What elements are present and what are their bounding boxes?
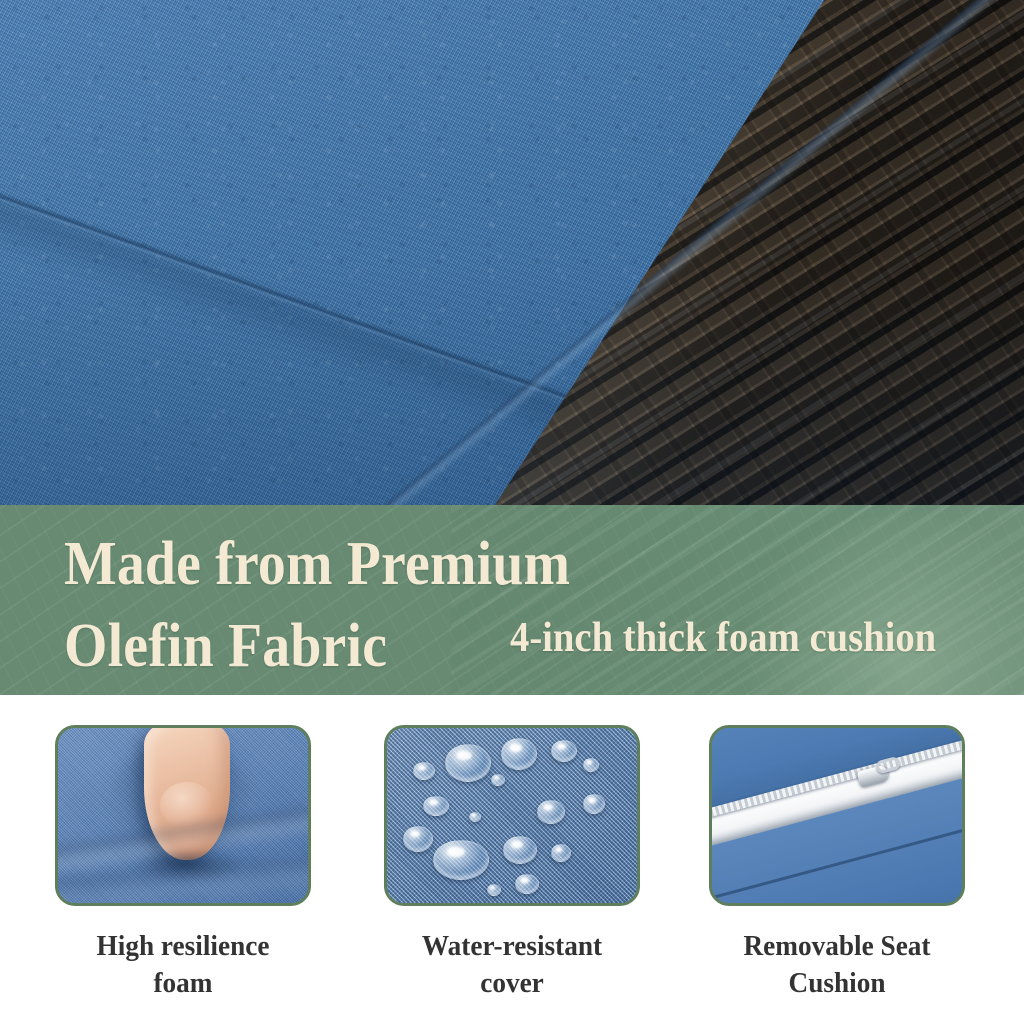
- water-droplet: [413, 762, 435, 780]
- feature-item-removable-seat-cushion: Removable Seat Cushion: [709, 725, 965, 1002]
- water-droplet: [501, 738, 537, 770]
- feature-caption: Water-resistant cover: [392, 928, 633, 1002]
- water-droplet: [433, 840, 489, 880]
- hand-pressing-foam-image: [55, 725, 311, 906]
- hero-product-image: [0, 0, 1024, 505]
- water-droplet: [503, 836, 537, 864]
- knuckle-highlight: [160, 782, 214, 828]
- headline-line-1: Made from Premium: [64, 523, 901, 605]
- feature-item-water-resistant-cover: Water-resistant cover: [384, 725, 640, 1002]
- water-droplet: [583, 794, 605, 814]
- water-droplet: [423, 796, 449, 816]
- water-droplet: [537, 800, 565, 824]
- water-droplet: [551, 740, 577, 762]
- feature-caption-line-2: Cushion: [717, 965, 958, 1002]
- feature-caption: Removable Seat Cushion: [717, 928, 958, 1002]
- water-droplet: [515, 874, 539, 894]
- feature-item-high-resilience-foam: High resilience foam: [55, 725, 311, 1002]
- water-droplet: [583, 758, 599, 772]
- headline-subtext: 4-inch thick foam cushion: [510, 613, 936, 663]
- infographic-canvas: Made from Premium Olefin Fabric 4-inch t…: [0, 0, 1024, 1024]
- water-droplets-on-fabric-image: [384, 725, 640, 906]
- water-droplet: [487, 884, 501, 896]
- headline-banner: Made from Premium Olefin Fabric 4-inch t…: [0, 505, 1024, 695]
- feature-caption-line-2: foam: [63, 965, 304, 1002]
- feature-caption-line-1: Removable Seat: [717, 928, 958, 965]
- zipper-on-cushion-image: [709, 725, 965, 906]
- water-droplet: [551, 844, 571, 862]
- feature-caption: High resilience foam: [63, 928, 304, 1002]
- feature-caption-line-2: cover: [392, 965, 633, 1002]
- feature-row: High resilience foam: [0, 695, 1024, 1024]
- water-droplet: [491, 774, 505, 786]
- water-droplet: [469, 812, 481, 822]
- water-droplet: [445, 744, 491, 782]
- feature-caption-line-1: High resilience: [63, 928, 304, 965]
- feature-caption-line-1: Water-resistant: [392, 928, 633, 965]
- water-droplet: [403, 826, 433, 852]
